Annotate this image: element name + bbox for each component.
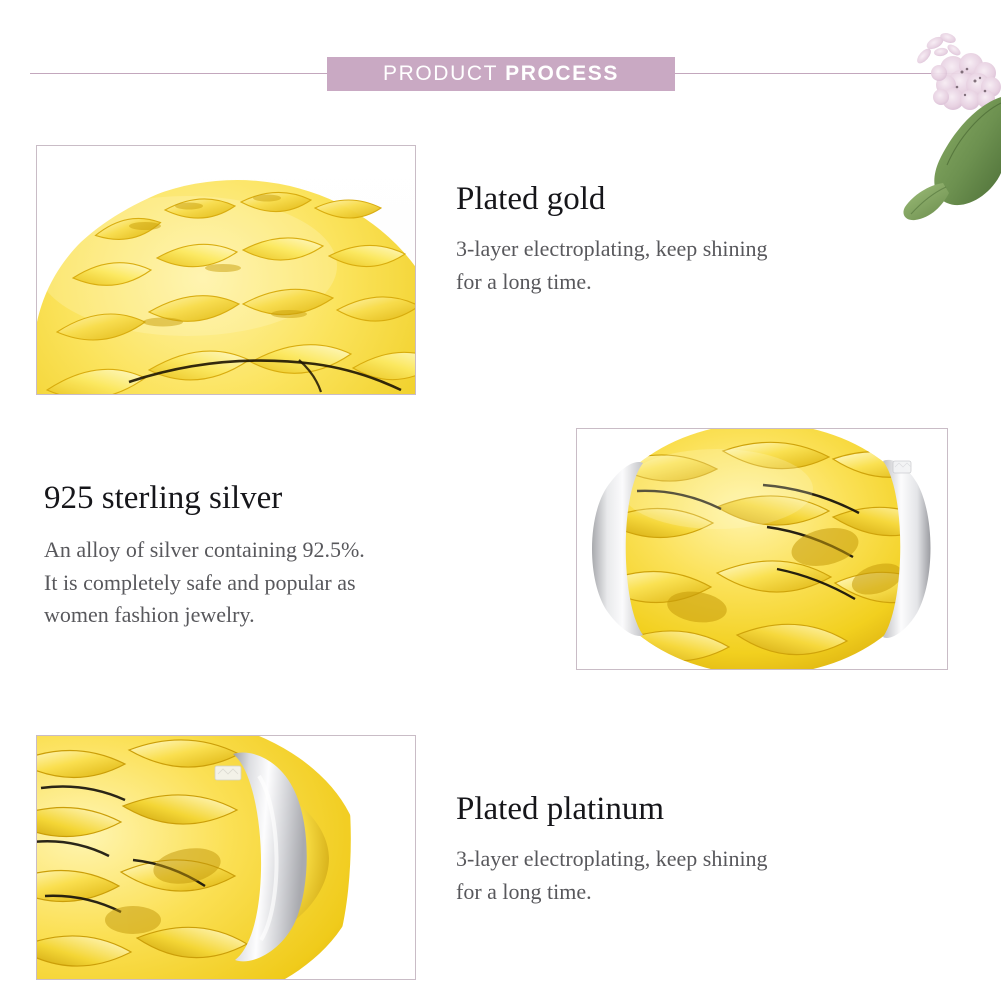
banner-label-bold: PROCESS <box>505 62 619 85</box>
page-header: PRODUCT PROCESS <box>0 57 1001 91</box>
heading-plated-gold: Plated gold <box>456 181 926 217</box>
banner-label: PRODUCT PROCESS <box>383 62 619 86</box>
body-line: women fashion jewelry. <box>44 599 514 632</box>
body-sterling-silver: An alloy of silver containing 92.5%. It … <box>44 534 514 632</box>
heading-plated-platinum: Plated platinum <box>456 791 926 827</box>
body-line: 3-layer electroplating, keep shining <box>456 843 926 876</box>
text-block-plated-gold: Plated gold 3-layer electroplating, keep… <box>456 181 926 298</box>
body-line: for a long time. <box>456 266 926 299</box>
text-block-plated-platinum: Plated platinum 3-layer electroplating, … <box>456 791 926 908</box>
body-line: It is completely safe and popular as <box>44 567 514 600</box>
section-title-banner: PRODUCT PROCESS <box>327 57 675 91</box>
text-block-sterling-silver: 925 sterling silver An alloy of silver c… <box>44 480 514 632</box>
product-photo-plated-platinum[interactable] <box>36 735 416 980</box>
body-plated-gold: 3-layer electroplating, keep shining for… <box>456 233 926 298</box>
banner-label-light: PRODUCT <box>383 62 505 85</box>
product-photo-plated-gold[interactable] <box>36 145 416 395</box>
product-photo-bead-charm[interactable] <box>576 428 948 670</box>
header-rule-right <box>675 73 971 74</box>
header-rule-left <box>30 73 327 74</box>
body-plated-platinum: 3-layer electroplating, keep shining for… <box>456 843 926 908</box>
body-line: for a long time. <box>456 876 926 909</box>
heading-sterling-silver: 925 sterling silver <box>44 480 514 516</box>
body-line: An alloy of silver containing 92.5%. <box>44 534 514 567</box>
body-line: 3-layer electroplating, keep shining <box>456 233 926 266</box>
